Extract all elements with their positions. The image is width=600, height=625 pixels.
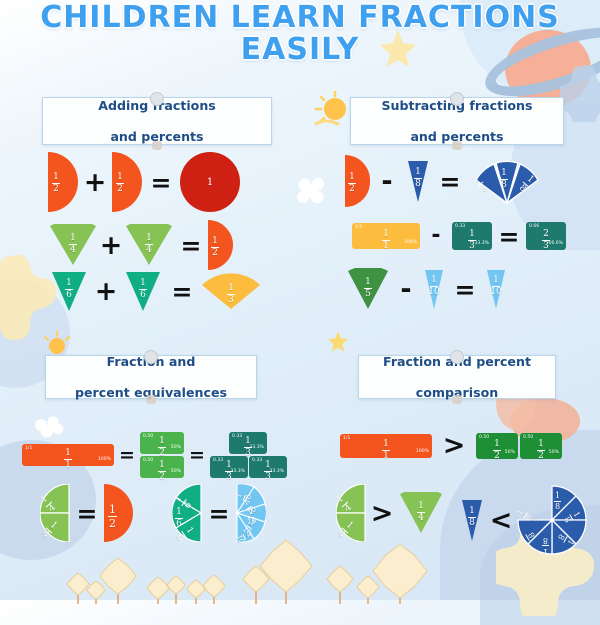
- section-header-adding[interactable]: Adding fractions and percents: [42, 97, 272, 145]
- operator-equals: =: [142, 170, 180, 195]
- equation-row-sub-1: 12 - 18 = 18 18 18: [345, 155, 546, 207]
- fraction-half-orange: 12: [345, 155, 370, 207]
- operator-equals: =: [202, 501, 236, 526]
- operator-equals: =: [114, 446, 140, 465]
- operator-minus: -: [420, 225, 452, 247]
- poster-canvas: CHILDREN LEARN FRACTIONS EASILY Adding f…: [0, 0, 600, 600]
- operator-equals: =: [447, 277, 483, 302]
- fraction-third-yellow: 13: [200, 271, 262, 311]
- title-line-2: EASILY: [0, 34, 600, 66]
- operator-equals: =: [164, 279, 200, 304]
- star-icon-small: [327, 330, 349, 352]
- equation-row-sub-3: 15 - 110 = 110: [345, 268, 509, 310]
- operator-equals: =: [184, 446, 210, 465]
- equation-row-compare-1: 1/1 100% 11 > 0.50 50% 12 0.50 50% 12: [340, 432, 562, 459]
- fraction-half-orange-2: 12: [112, 152, 142, 212]
- equation-row-equiv-1: 1/1 100% 11 = 0.50 50% 12 0.50 50% 12 =: [22, 432, 286, 478]
- tape-icon: [452, 141, 462, 150]
- fraction-sixth-teal-2: 16: [122, 270, 164, 312]
- equation-row-add-2: 14 + 14 = 12: [48, 220, 233, 270]
- sun-icon: [312, 90, 354, 137]
- percent-bar-thirds-teal: 0.33 33.3% 13 0.33 33.3% 13 0.33 33.3% 1…: [210, 432, 286, 478]
- pin-icon: [150, 92, 164, 106]
- percent-bar-whole-orange: 1/1 100% 11: [340, 434, 432, 458]
- section-header-subtracting[interactable]: Subtracting fractions and percents: [350, 97, 564, 145]
- tape-icon: [152, 141, 162, 150]
- tape-icon: [146, 395, 156, 404]
- fraction-quarter-green: 14: [48, 224, 98, 266]
- percent-bar-halves-green: 0.50 50% 12 0.50 50% 12: [140, 432, 184, 478]
- equation-row-sub-2: 1/1 100% 11 - 0.33 33.3% 13 = 0.66 66.6%…: [352, 222, 566, 250]
- page-title: CHILDREN LEARN FRACTIONS EASILY: [0, 2, 600, 66]
- fraction-quarter-green: 14: [398, 492, 444, 534]
- operator-plus: +: [98, 232, 124, 259]
- percent-label: 0.66: [529, 225, 539, 230]
- fraction-half-orange-result: 12: [208, 220, 233, 270]
- percent-bar-halves-green-pair: 0.50 50% 12 0.50 50% 12: [476, 433, 562, 459]
- fraction-eighth-fan-3: 18 18 18: [468, 158, 546, 204]
- operator-equals: =: [492, 224, 526, 249]
- equation-row-add-1: 12 + 12 = 1: [48, 152, 240, 212]
- operator-equals: =: [432, 169, 468, 194]
- percent-bar-two-thirds-teal: 0.66 66.6% 23: [526, 222, 566, 250]
- tape-icon: [452, 395, 462, 404]
- operator-equals: =: [70, 501, 104, 526]
- pin-icon: [450, 92, 464, 106]
- fraction-tenth-lightblue-2: 110: [483, 268, 509, 310]
- operator-less-than: <: [486, 507, 516, 534]
- pin-icon: [450, 350, 464, 364]
- operator-plus: +: [78, 169, 112, 196]
- percent-bar-third-teal: 0.33 33.3% 13: [452, 222, 492, 250]
- operator-minus: -: [391, 276, 421, 303]
- fraction-quarter-green-2: 14: [124, 224, 174, 266]
- fraction-eighth-blue: 18: [404, 159, 432, 203]
- fraction-half-orange: 12: [48, 152, 78, 212]
- operator-greater-than: >: [432, 432, 476, 459]
- pin-icon: [144, 350, 158, 364]
- fraction-whole-circle: 1: [180, 152, 240, 212]
- operator-minus: -: [370, 168, 404, 195]
- title-line-1: CHILDREN LEARN FRACTIONS: [40, 0, 560, 35]
- operator-plus: +: [90, 278, 122, 305]
- operator-greater-than: >: [366, 500, 398, 527]
- fraction-fifth-green: 15: [345, 268, 391, 310]
- percent-bar-whole-orange: 1/1 100% 11: [22, 444, 114, 466]
- fraction-tenth-lightblue: 110: [421, 268, 447, 310]
- section-header-equivalences[interactable]: Fraction and percent equivalences: [45, 355, 257, 399]
- operator-equals: =: [174, 233, 208, 258]
- flower-icon: [295, 175, 329, 212]
- section-header-comparison[interactable]: Fraction and percent comparison: [358, 355, 556, 399]
- percent-label: 0.33: [455, 225, 465, 230]
- equation-row-add-3: 16 + 16 = 13: [48, 270, 262, 312]
- fraction-sixth-teal: 16: [48, 270, 90, 312]
- percent-bar-whole-yellow: 1/1 100% 11: [352, 223, 420, 249]
